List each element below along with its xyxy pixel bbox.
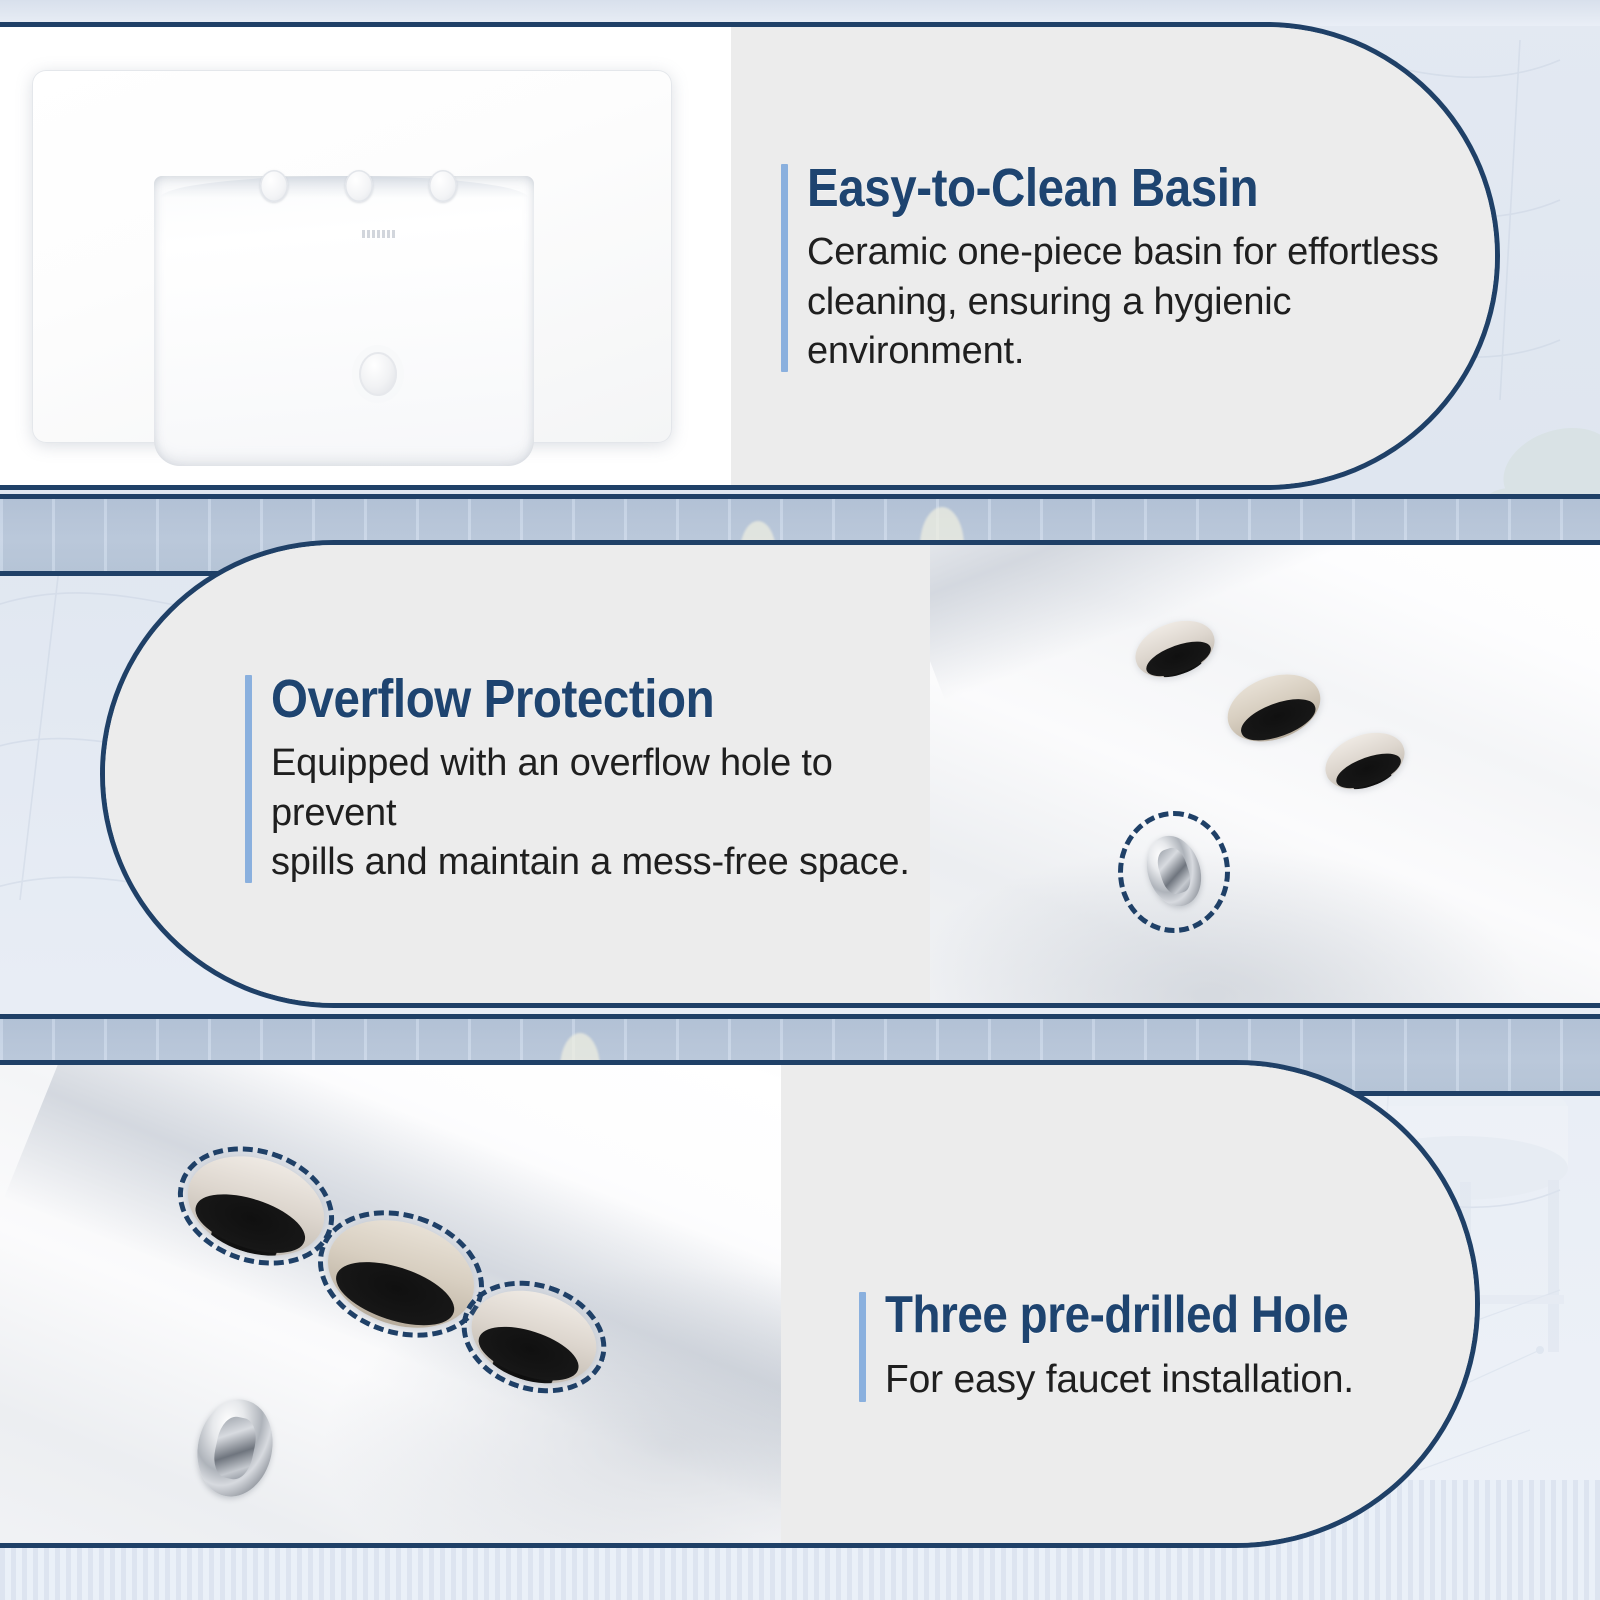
feature-panel-three-pre-drilled-hole: Three pre-drilled Hole For easy faucet i… [0, 1060, 1480, 1548]
faucet-hole-center-icon [345, 170, 373, 202]
faucet-hole-left-icon [260, 170, 288, 202]
feature-panel-overflow-protection: Overflow Protection Equipped with an ove… [100, 540, 1600, 1008]
sink-drain-icon [359, 352, 397, 396]
product-photo-predrilled-holes-closeup [0, 1065, 781, 1543]
panel-3-headline: Three pre-drilled Hole [885, 1288, 1404, 1343]
panel-3-body-line-1: For easy faucet installation. [885, 1355, 1475, 1406]
feature-text-three-pre-drilled-hole: Three pre-drilled Hole For easy faucet i… [781, 1065, 1475, 1543]
accent-bar [245, 675, 252, 884]
panel-1-body-line-1: Ceramic one-piece basin for effortless [807, 228, 1495, 277]
feature-text-overflow-protection: Overflow Protection Equipped with an ove… [105, 545, 930, 1003]
sink-basin [154, 176, 534, 466]
text-block: Easy-to-Clean Basin Ceramic one-piece ba… [781, 160, 1495, 377]
sink-brand-mark [362, 230, 396, 238]
faucet-hole-right-icon [429, 170, 457, 202]
feature-panel-easy-to-clean-basin: Easy-to-Clean Basin Ceramic one-piece ba… [0, 22, 1500, 490]
text-block: Overflow Protection Equipped with an ove… [245, 671, 930, 888]
sink-top-illustration [32, 70, 672, 443]
panel-1-headline: Easy-to-Clean Basin [807, 160, 1412, 217]
panel-1-body-line-2: cleaning, ensuring a hygienic environmen… [807, 278, 1495, 377]
sink-closeup-illustration [930, 545, 1600, 1003]
product-photo-overflow-closeup [930, 545, 1600, 1003]
panel-2-body-line-1: Equipped with an overflow hole to preven… [271, 739, 930, 838]
panel-2-headline: Overflow Protection [271, 671, 851, 728]
panel-2-body-line-2: spills and maintain a mess-free space. [271, 838, 930, 887]
text-block: Three pre-drilled Hole For easy faucet i… [859, 1288, 1475, 1405]
feature-text-easy-to-clean-basin: Easy-to-Clean Basin Ceramic one-piece ba… [731, 27, 1495, 485]
product-photo-sink-top-view [0, 27, 731, 485]
sink-closeup-illustration [0, 1065, 781, 1543]
accent-bar [859, 1292, 866, 1401]
accent-bar [781, 164, 788, 373]
